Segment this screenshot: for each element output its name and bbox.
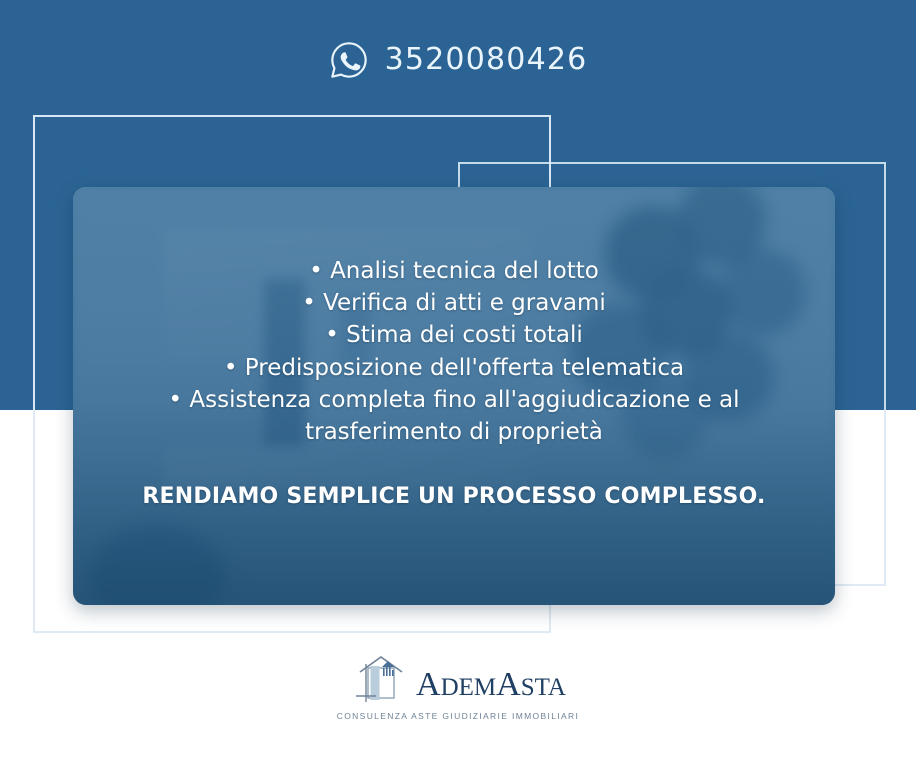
list-item: Verifica di atti e gravami: [168, 287, 739, 319]
logo-row: ADEMASTA: [350, 652, 566, 704]
list-item: Predisposizione dell'offerta telematica: [168, 352, 739, 384]
logo-wordmark: ADEMASTA: [416, 668, 566, 702]
card-tagline: RENDIAMO SEMPLICE UN PROCESSO COMPLESSO.: [142, 484, 765, 509]
logo-word-dem: DEM: [441, 674, 497, 701]
list-item: Analisi tecnica del lotto: [168, 255, 739, 287]
service-card: Analisi tecnica del lotto Verifica di at…: [73, 187, 835, 605]
logo-word-a1: A: [416, 666, 441, 703]
logo-word-a2: A: [496, 666, 521, 703]
logo-word-sta: STA: [521, 674, 566, 701]
service-bullet-list: Analisi tecnica del lotto Verifica di at…: [168, 255, 739, 448]
whatsapp-icon[interactable]: [329, 40, 369, 80]
house-logo-icon: [350, 652, 412, 704]
list-item: Stima dei costi totali: [168, 319, 739, 351]
logo-subtitle: CONSULENZA ASTE GIUDIZIARIE IMMOBILIARI: [337, 711, 580, 721]
list-item: Assistenza completa fino all'aggiudicazi…: [168, 384, 739, 416]
poster-canvas: 3520080426 Analisi tecnica del lotto Ver…: [0, 0, 916, 768]
phone-number[interactable]: 3520080426: [385, 45, 588, 75]
card-content: Analisi tecnica del lotto Verifica di at…: [73, 187, 835, 605]
header-contact: 3520080426: [0, 36, 916, 84]
list-item-continuation: trasferimento di proprietà: [168, 416, 739, 448]
brand-logo: ADEMASTA CONSULENZA ASTE GIUDIZIARIE IMM…: [0, 652, 916, 721]
